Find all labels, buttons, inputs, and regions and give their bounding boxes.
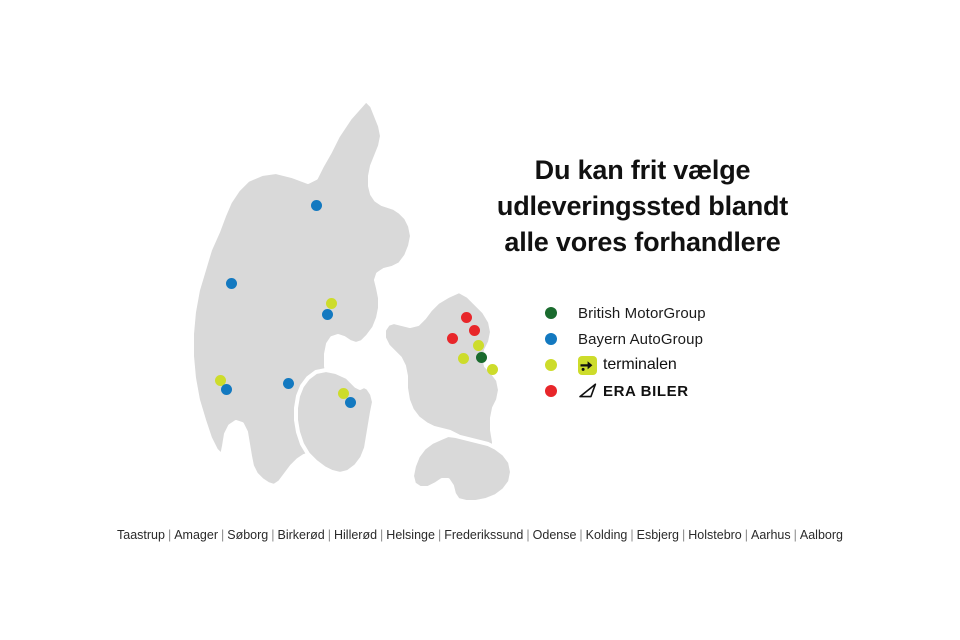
- legend-item-terminalen: terminalen: [545, 352, 805, 378]
- terminalen-wordmark: terminalen: [603, 356, 677, 374]
- headline-line-3: alle vores forhandlere: [455, 224, 830, 260]
- legend-swatch-terminalen: [545, 359, 557, 371]
- marker-frederikssund[interactable]: [447, 333, 458, 344]
- era-biler-logo: ERA BILER: [578, 383, 689, 400]
- city-separator: |: [269, 528, 276, 542]
- legend-item-british-motorgroup: British MotorGroup: [545, 300, 805, 326]
- legend-swatch-bayern-autogroup: [545, 333, 557, 345]
- legend-swatch-british-motorgroup: [545, 307, 557, 319]
- page-title: Du kan frit vælge udleveringssted blandt…: [455, 152, 830, 260]
- marker-holstebro[interactable]: [226, 278, 237, 289]
- city-item: Holstebro: [687, 528, 743, 542]
- marker-hillerod[interactable]: [469, 325, 480, 336]
- era-biler-wordmark: ERA BILER: [603, 383, 689, 400]
- city-separator: |: [326, 528, 333, 542]
- headline-line-2: udleveringssted blandt: [455, 188, 830, 224]
- marker-aalborg[interactable]: [311, 200, 322, 211]
- map-region-funen: [296, 370, 374, 474]
- city-list: Taastrup|Amager|Søborg|Birkerød|Hillerød…: [0, 528, 960, 542]
- city-separator: |: [577, 528, 584, 542]
- terminalen-logo: terminalen: [578, 356, 677, 375]
- marker-aarhus-b[interactable]: [322, 309, 333, 320]
- map-region-lolland-falster: [412, 435, 512, 502]
- marker-birkerod[interactable]: [473, 340, 484, 351]
- poster-canvas: Du kan frit vælge udleveringssted blandt…: [0, 0, 960, 640]
- terminalen-arrow-icon: [580, 360, 593, 371]
- legend-label-bayern-autogroup: Bayern AutoGroup: [578, 331, 703, 348]
- marker-helsinge[interactable]: [461, 312, 472, 323]
- city-separator: |: [628, 528, 635, 542]
- marker-aarhus-t[interactable]: [326, 298, 337, 309]
- marker-amager[interactable]: [476, 352, 487, 363]
- city-separator: |: [743, 528, 750, 542]
- dealer-legend: British MotorGroup Bayern AutoGroup term…: [545, 300, 805, 404]
- city-item: Aarhus: [750, 528, 792, 542]
- city-item: Hillerød: [333, 528, 378, 542]
- marker-kolding[interactable]: [283, 378, 294, 389]
- city-item: Søborg: [226, 528, 269, 542]
- marker-taastrup[interactable]: [487, 364, 498, 375]
- legend-label-british-motorgroup: British MotorGroup: [578, 305, 706, 322]
- city-item: Aalborg: [799, 528, 844, 542]
- legend-item-era-biler: ERA BILER: [545, 378, 805, 404]
- city-item: Birkerød: [277, 528, 326, 542]
- terminalen-mark-icon: [578, 356, 597, 375]
- city-item: Esbjerg: [636, 528, 680, 542]
- city-separator: |: [524, 528, 531, 542]
- marker-odense-b[interactable]: [345, 397, 356, 408]
- city-item: Helsinge: [385, 528, 436, 542]
- city-item: Kolding: [585, 528, 629, 542]
- marker-esbjerg-b[interactable]: [221, 384, 232, 395]
- city-separator: |: [792, 528, 799, 542]
- city-item: Amager: [173, 528, 219, 542]
- era-biler-triangle-icon: [578, 383, 597, 399]
- legend-item-bayern-autogroup: Bayern AutoGroup: [545, 326, 805, 352]
- marker-soborg[interactable]: [458, 353, 469, 364]
- city-item: Taastrup: [116, 528, 166, 542]
- headline-line-1: Du kan frit vælge: [455, 152, 830, 188]
- city-item: Frederikssund: [443, 528, 524, 542]
- city-item: Odense: [532, 528, 578, 542]
- legend-swatch-era-biler: [545, 385, 557, 397]
